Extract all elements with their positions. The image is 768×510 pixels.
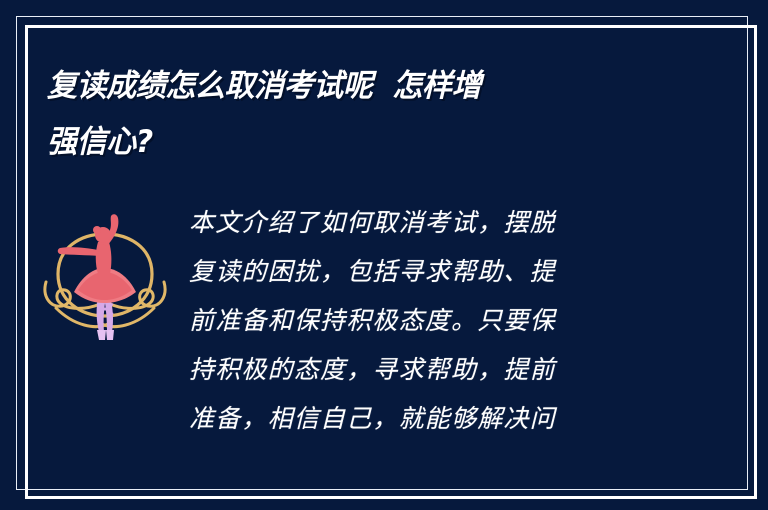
ballerina-illustration xyxy=(25,190,185,344)
body-line-3: 前准备和保持积极态度。只要保 xyxy=(189,296,757,345)
title-line-1: 复读成绩怎么取消考试呢 怎样增 xyxy=(47,58,668,114)
page-title: 复读成绩怎么取消考试呢 怎样增 强信心? xyxy=(47,58,687,170)
body-line-1: 本文介绍了如何取消考试，摆脱 xyxy=(189,198,757,247)
body-line-5: 准备，相信自己，就能够解决问 xyxy=(189,394,757,443)
ballerina-icon xyxy=(40,204,170,344)
body-line-4: 持积极的态度，寻求帮助，提前 xyxy=(189,345,757,394)
body-line-2: 复读的困扰，包括寻求帮助、提 xyxy=(189,247,757,296)
content-area: 本文介绍了如何取消考试，摆脱 复读的困扰，包括寻求帮助、提 前准备和保持积极态度… xyxy=(25,190,757,499)
article-card: 复读成绩怎么取消考试呢 怎样增 强信心? xyxy=(0,0,768,510)
article-body: 本文介绍了如何取消考试，摆脱 复读的困扰，包括寻求帮助、提 前准备和保持积极态度… xyxy=(185,190,757,443)
title-line-2: 强信心? xyxy=(47,114,668,170)
